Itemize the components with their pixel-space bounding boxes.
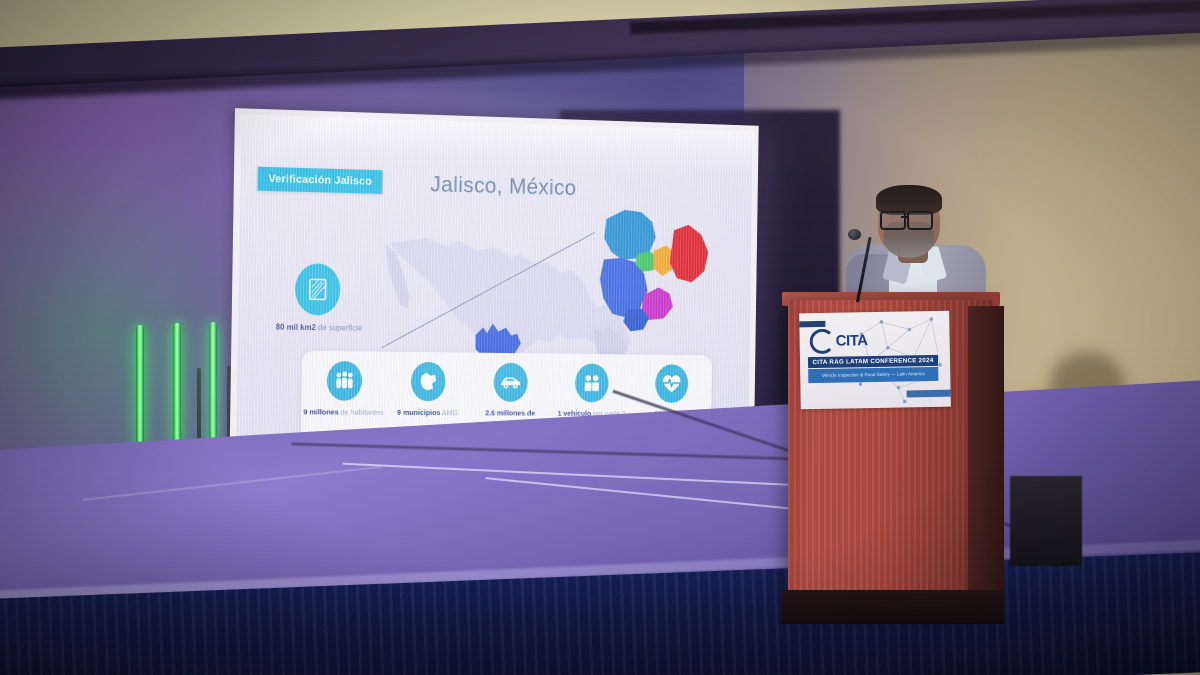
heart-pulse-icon — [655, 364, 688, 403]
cita-logo-text: CITA — [836, 332, 868, 350]
stage-tape-line — [83, 466, 381, 501]
stat-item: 9 municipios AMG — [388, 362, 468, 419]
stat-item: 9 millones de habitantes — [303, 361, 384, 419]
jalisco-map — [582, 201, 730, 338]
slide-badge: Verificación Jalisco — [257, 167, 382, 194]
area-value: 80 mil km2 — [276, 323, 316, 332]
area-label: 80 mil km2 de superficie — [255, 322, 382, 333]
two-people-icon — [575, 363, 609, 402]
state-shape-icon — [411, 362, 446, 402]
sign-accent-top-left — [799, 321, 825, 327]
podium-base — [782, 590, 1004, 624]
stat-caption: 9 millones de habitantes — [303, 407, 383, 418]
sign-headline: CITA RAG LATAM CONFERENCE 2024 — [808, 355, 938, 368]
microphone-capsule — [848, 229, 861, 240]
speaker-glasses-left-lens — [880, 211, 906, 230]
cita-logo-mark — [809, 329, 834, 354]
stat-sub: de habitantes — [341, 408, 384, 417]
car-icon — [493, 363, 527, 402]
stage-equipment-box — [1010, 476, 1082, 566]
people-group-icon — [326, 361, 362, 401]
conference-photo-scene: Verificación Jalisco Jalisco, México — [0, 0, 1200, 675]
speaker-glasses-right-lens — [907, 211, 933, 230]
speaker-glasses-bridge — [901, 216, 908, 218]
led-tube-2 — [173, 323, 181, 458]
area-suffix: de superficie — [318, 323, 362, 332]
slide-title: Jalisco, México — [430, 172, 576, 201]
led-tube-1 — [136, 325, 144, 460]
podium-side-panel — [968, 306, 1004, 606]
sign-subline: Vehicle Inspection & Road Safety — Latin… — [808, 367, 938, 383]
stat-value: 2.6 millones de — [485, 408, 535, 417]
stat-caption: 9 municipios AMG — [397, 408, 458, 419]
stat-value: 9 municipios — [397, 408, 440, 417]
stat-value: 9 millones — [303, 407, 338, 416]
podium-sign: CITA CITA RAG LATAM CONFERENCE 2024 Vehi… — [799, 311, 951, 410]
area-grid-icon — [295, 263, 341, 315]
stat-sub: AMG — [442, 408, 458, 417]
cita-logo: CITA — [809, 328, 867, 354]
